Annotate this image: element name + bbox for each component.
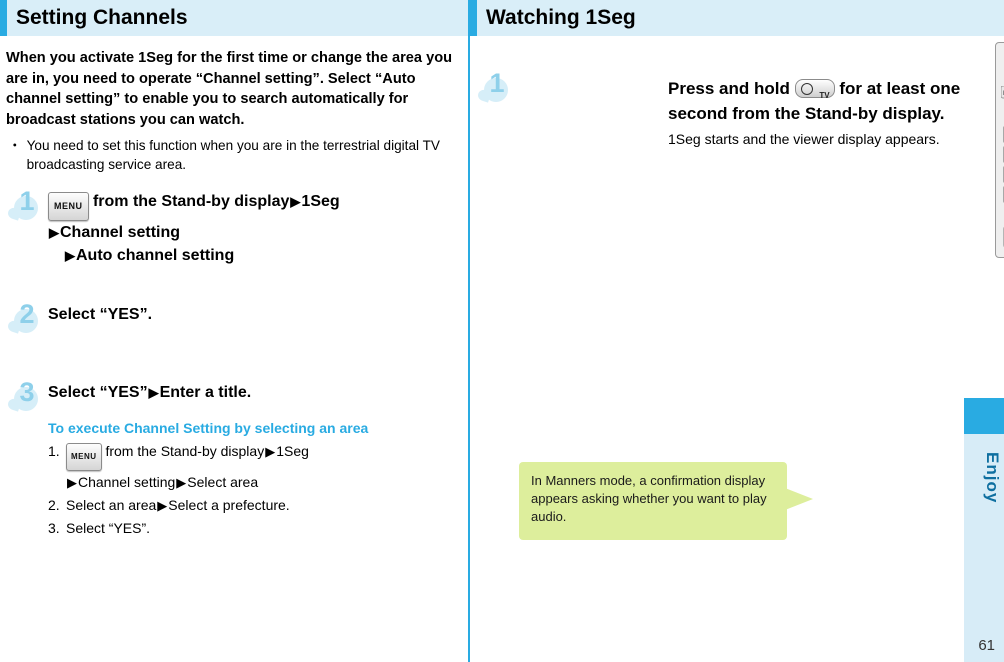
sub-item-3-number: 3. xyxy=(48,517,66,539)
triangle-icon: ▶ xyxy=(176,472,186,494)
step-1-number: 1 xyxy=(6,188,46,224)
sub-item-2-a: Select an area xyxy=(66,497,156,513)
triangle-icon: ▶ xyxy=(65,244,75,267)
sub-item-1-cont-text: ▶Channel setting▶Select area xyxy=(66,471,454,494)
menu-key-icon: MENU xyxy=(48,192,89,221)
triangle-icon: ▶ xyxy=(67,472,77,494)
edge-tab-label: Enjoy xyxy=(966,452,1002,503)
page-title-watching-1seg: Watching 1Seg xyxy=(486,6,636,30)
step-1: 1 MENU from the Stand-by display▶1Seg ▶C… xyxy=(6,190,454,267)
manners-mode-callout: In Manners mode, a confirmation display … xyxy=(519,462,787,540)
sub-item-1-cont-b: Select area xyxy=(187,474,258,490)
sub-item-2-number: 2. xyxy=(48,494,66,517)
step-1-line2: Channel setting xyxy=(60,224,180,241)
step-1-line2-wrap: ▶Channel setting xyxy=(48,221,454,244)
camera-tv-key-icon: TV xyxy=(795,79,835,98)
step-3-digit: 3 xyxy=(10,377,44,408)
triangle-icon: ▶ xyxy=(149,381,159,404)
step-2-text: Select “YES”. xyxy=(48,303,454,326)
step-1-line1b: 1Seg xyxy=(301,193,339,210)
sub-item-3: 3. Select “YES”. xyxy=(48,517,454,539)
right-step-1-number: 1 xyxy=(476,70,516,106)
step-2: 2 Select “YES”. xyxy=(6,303,454,337)
bullet-dot: ・ xyxy=(8,136,22,174)
step-3-number: 3 xyxy=(6,379,46,415)
header-accent-bar xyxy=(0,0,7,36)
sub-item-3-text: Select “YES”. xyxy=(66,517,454,539)
manners-mode-callout-text: In Manners mode, a confirmation display … xyxy=(519,462,787,536)
right-step-1-headline: Press and hold TV for at least one secon… xyxy=(668,76,998,126)
sub-item-1-a: from the Stand-by display xyxy=(102,443,265,459)
triangle-icon: ▶ xyxy=(157,495,167,517)
camera-dot-icon xyxy=(801,83,813,95)
sub-item-1-number: 1. xyxy=(48,440,66,471)
step-3-text-b: Enter a title. xyxy=(160,384,252,401)
right-section-header: Watching 1Seg xyxy=(470,0,1004,36)
right-step-1-note: 1Seg starts and the viewer display appea… xyxy=(668,130,998,149)
sub-procedure-list: 1. MENU from the Stand-by display▶1Seg ▶… xyxy=(48,440,454,539)
step-2-digit: 2 xyxy=(10,299,44,330)
triangle-icon: ▶ xyxy=(290,190,300,213)
step-1-line3: Auto channel setting xyxy=(76,247,234,264)
edge-tab-accent xyxy=(964,398,1004,434)
step-3: 3 Select “YES”▶Enter a title. To execute… xyxy=(6,381,454,539)
sub-item-1-cont-a: Channel setting xyxy=(78,474,175,490)
sub-item-1: 1. MENU from the Stand-by display▶1Seg xyxy=(48,440,454,471)
triangle-icon: ▶ xyxy=(265,441,275,463)
triangle-icon: ▶ xyxy=(49,221,59,244)
right-step-1-digit: 1 xyxy=(480,68,514,99)
header-accent-bar xyxy=(470,0,477,36)
step-1-line1a: from the Stand-by display xyxy=(89,193,290,210)
sub-item-2-text: Select an area▶Select a prefecture. xyxy=(66,494,454,517)
camera-tv-label: TV xyxy=(819,83,829,108)
sub-procedure-heading: To execute Channel Setting by selecting … xyxy=(48,420,454,436)
right-step-1-text: Press and hold TV for at least one secon… xyxy=(668,76,998,149)
intro-bullet-text: You need to set this function when you a… xyxy=(27,136,454,174)
sub-item-1-cont: ▶Channel setting▶Select area xyxy=(48,471,454,494)
left-column: Setting Channels When you activate 1Seg … xyxy=(0,0,468,662)
intro-bullet: ・ You need to set this function when you… xyxy=(8,136,454,174)
right-column: Watching 1Seg 1 Press and hold TV for at… xyxy=(470,0,1004,662)
step-1-digit: 1 xyxy=(10,186,44,217)
right-step-1-headline-a: Press and hold xyxy=(668,79,795,98)
step-1-text: MENU from the Stand-by display▶1Seg ▶Cha… xyxy=(48,190,454,267)
step-3-text: Select “YES”▶Enter a title. xyxy=(48,381,454,404)
sub-item-2: 2. Select an area▶Select a prefecture. xyxy=(48,494,454,517)
sub-item-1-b: 1Seg xyxy=(276,443,309,459)
page-title-setting-channels: Setting Channels xyxy=(16,6,188,30)
intro-paragraph: When you activate 1Seg for the first tim… xyxy=(6,48,454,130)
mobile-phone-illustration: MEM i 1 .@/ 2 ABC 3 DEF 4 GHI 5 JKL 6 MN… xyxy=(995,42,1004,256)
sub-item-2-b: Select a prefecture. xyxy=(168,497,289,513)
edge-tab-background xyxy=(964,398,1004,662)
left-body: When you activate 1Seg for the first tim… xyxy=(0,36,468,539)
menu-key-icon: MENU xyxy=(66,443,102,471)
sub-item-1-text: MENU from the Stand-by display▶1Seg xyxy=(66,440,454,471)
step-3-text-a: Select “YES” xyxy=(48,384,148,401)
page-number: 61 xyxy=(978,637,995,654)
step-2-number: 2 xyxy=(6,301,46,337)
left-section-header: Setting Channels xyxy=(0,0,468,36)
step-1-line3-wrap: ▶Auto channel setting xyxy=(48,244,454,267)
